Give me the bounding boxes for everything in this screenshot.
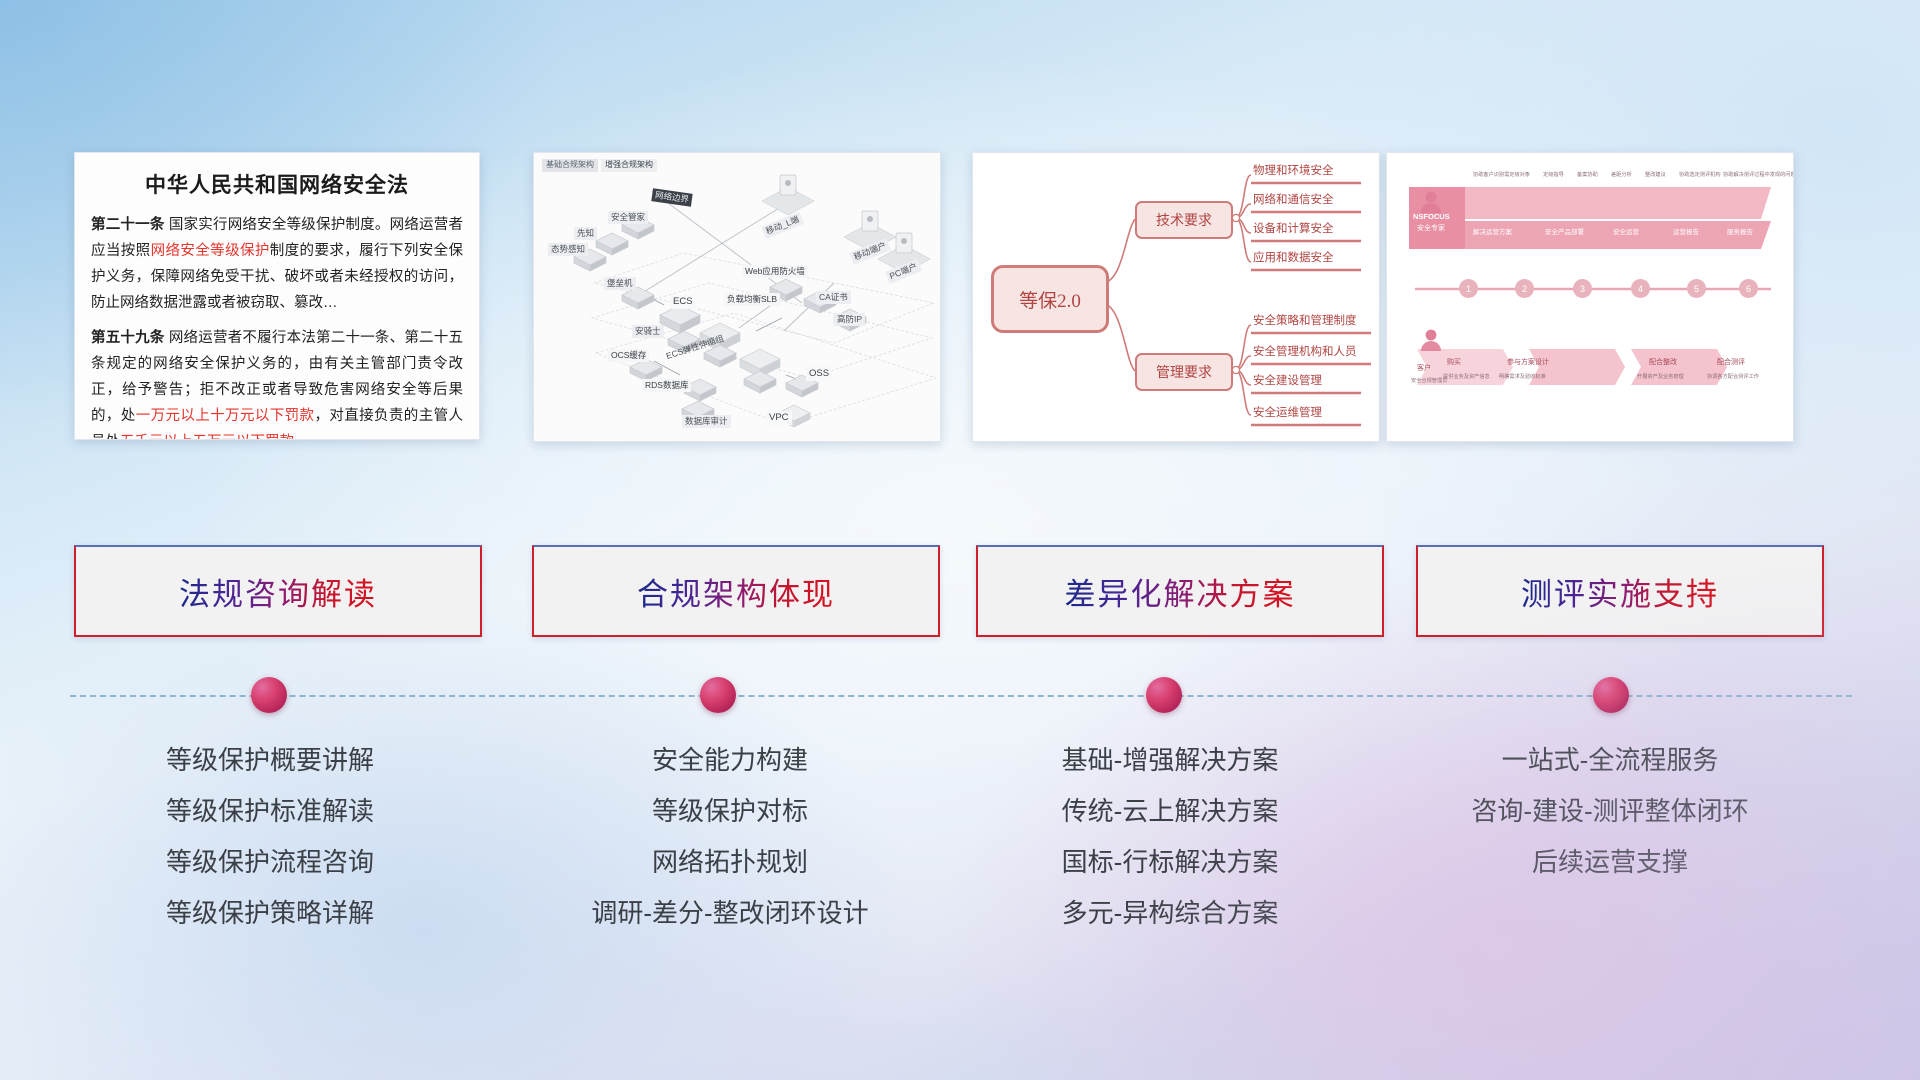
nsfocus-bottom-label-3: 配合整改	[1649, 359, 1677, 367]
nsfocus-top-step-5: 整改建议	[1645, 173, 1666, 179]
timeline	[0, 650, 1920, 730]
list-item: 调研-差分-整改闭环设计	[520, 888, 940, 939]
article-59-highlight-1: 一万元以上十万元以下罚款	[136, 408, 315, 424]
mindmap-leaf-org-personnel: 安全管理机构和人员	[1253, 346, 1357, 359]
law-card-title: 中华人民共和国网络安全法	[91, 173, 463, 198]
nsfocus-service-timeline-card[interactable]: NSFOCUS 安全专家 协助客户识别需定级对象 定级指导 备案协助 差距分析 …	[1386, 152, 1794, 442]
mindmap-leaf-physical-env: 物理和环境安全	[1253, 165, 1334, 178]
banner-evaluation-support[interactable]: 测评实施支持	[1416, 545, 1824, 637]
nsfocus-step-number-1: 1	[1459, 279, 1478, 298]
nsfocus-top-step-6: 协助选定测评机构	[1679, 173, 1721, 179]
node-anti-ddos-ip: 高防IP	[834, 313, 865, 326]
node-ocs-cache: OCS缓存	[608, 349, 649, 362]
list-item: 国标-行标解决方案	[960, 837, 1380, 888]
mindmap-leaf-app-data: 应用和数据安全	[1253, 252, 1334, 265]
list-item: 基础-增强解决方案	[960, 735, 1380, 786]
architecture-diagram: 基础合规架构 增强合规架构	[534, 153, 940, 441]
nsfocus-step-number-4: 4	[1631, 279, 1650, 298]
mindmap-root-node: 等保2.0	[991, 265, 1109, 333]
nsfocus-top-step-1: 协助客户识别需定级对象	[1473, 173, 1530, 179]
node-vpc: VPC	[766, 411, 792, 425]
nsfocus-persona-sub: 安全合规管理员	[1411, 379, 1447, 385]
list-item: 后续运营支撑	[1400, 837, 1820, 888]
list-item: 一站式-全流程服务	[1400, 735, 1820, 786]
banner-label-2: 合规架构体现	[637, 569, 835, 614]
node-ca-certificate: CA证书	[816, 291, 851, 304]
list-item: 多元-异构综合方案	[960, 888, 1380, 939]
timeline-dashed-line	[70, 695, 1852, 697]
nsfocus-persona: 客户	[1417, 365, 1431, 373]
banner-row: 法规咨询解读 合规架构体现 差异化解决方案 测评实施支持	[0, 545, 1920, 645]
nsfocus-bottom-label-4: 配合测评	[1717, 359, 1745, 367]
nsfocus-stage-3: 安全运营	[1613, 229, 1639, 236]
nsfocus-step-number-2: 2	[1515, 279, 1534, 298]
law-article-59: 第五十九条 网络运营者不履行本法第二十一条、第二十五条规定的网络安全保护义务的，…	[91, 325, 463, 440]
mindmap-leaf-network-comm: 网络和通信安全	[1253, 194, 1334, 207]
node-xianzhi: 先知	[574, 227, 597, 240]
nsfocus-step-number-6: 6	[1739, 279, 1758, 298]
article-59-highlight-2: 五千元以上五万元以下罚款	[120, 434, 294, 440]
detail-column-4: 一站式-全流程服务 咨询-建设-测评整体闭环 后续运营支撑	[1400, 735, 1820, 888]
nsfocus-brand-sub: 安全专家	[1417, 225, 1445, 233]
banner-compliance-architecture[interactable]: 合规架构体现	[532, 545, 940, 637]
mindmap-leaf-device-compute: 设备和计算安全	[1253, 223, 1334, 236]
nsfocus-bottom-label-1: 购买	[1447, 359, 1461, 367]
slide-canvas: 中华人民共和国网络安全法 第二十一条 国家实行网络安全等级保护制度。网络运营者应…	[0, 0, 1920, 1080]
mindmap: 等保2.0 技术要求 物理和环境安全 网络和通信安全 设备和计算安全 应用和数据…	[973, 153, 1379, 441]
timeline-dot-2[interactable]	[700, 677, 736, 713]
law-article-21: 第二十一条 国家实行网络安全等级保护制度。网络运营者应当按照网络安全等级保护制度…	[91, 212, 463, 316]
mindmap-leaf-ops-mgmt: 安全运维管理	[1253, 407, 1322, 420]
top-image-card-row: 中华人民共和国网络安全法 第二十一条 国家实行网络安全等级保护制度。网络运营者应…	[0, 152, 1920, 444]
node-security-butler: 安全管家	[608, 211, 648, 224]
timeline-dot-3[interactable]	[1146, 677, 1182, 713]
list-item: 网络拓扑规划	[520, 837, 940, 888]
node-oss: OSS	[806, 367, 832, 381]
banner-label-4: 测评实施支持	[1521, 569, 1719, 614]
list-item: 等级保护流程咨询	[60, 837, 480, 888]
nsfocus-bottom-sub-3: 开展资产及业务梳理	[1637, 375, 1684, 381]
list-item: 等级保护概要讲解	[60, 735, 480, 786]
banner-differentiated-solution[interactable]: 差异化解决方案	[976, 545, 1384, 637]
article-59-t4: 。	[294, 434, 309, 440]
nsfocus-stage-2: 安全产品部署	[1545, 229, 1584, 236]
detail-column-row: 等级保护概要讲解 等级保护标准解读 等级保护流程咨询 等级保护策略详解 安全能力…	[0, 735, 1920, 965]
nsfocus-stage-4: 运营报告	[1673, 229, 1699, 236]
nsfocus-shapes	[1387, 153, 1793, 441]
timeline-dot-1[interactable]	[251, 677, 287, 713]
nsfocus-step-number-5: 5	[1687, 279, 1706, 298]
cybersecurity-law-card[interactable]: 中华人民共和国网络安全法 第二十一条 国家实行网络安全等级保护制度。网络运营者应…	[74, 152, 480, 440]
banner-label-1: 法规咨询解读	[179, 569, 377, 614]
article-21-number: 第二十一条	[91, 217, 165, 233]
banner-regulation-consulting[interactable]: 法规咨询解读	[74, 545, 482, 637]
nsfocus-bottom-sub-4: 协调各方配合测评工作	[1707, 375, 1759, 381]
nsfocus-bottom-sub-1: 提供业务及资产信息	[1443, 375, 1490, 381]
list-item: 传统-云上解决方案	[960, 786, 1380, 837]
nsfocus-bottom-sub-2: 明确需求及验收标准	[1499, 375, 1546, 381]
detail-column-1: 等级保护概要讲解 等级保护标准解读 等级保护流程咨询 等级保护策略详解	[60, 735, 480, 939]
node-database-audit: 数据库审计	[682, 415, 731, 428]
list-item: 咨询-建设-测评整体闭环	[1400, 786, 1820, 837]
nsfocus-top-step-7: 协助解决测评过程中发现的问题	[1723, 173, 1794, 179]
list-item: 等级保护标准解读	[60, 786, 480, 837]
node-situational-awareness: 态势感知	[548, 243, 588, 256]
detail-column-2: 安全能力构建 等级保护对标 网络拓扑规划 调研-差分-整改闭环设计	[520, 735, 940, 939]
node-waf: Web应用防火墙	[742, 265, 808, 278]
node-ecs: ECS	[670, 295, 696, 309]
article-59-number: 第五十九条	[91, 330, 165, 346]
article-21-highlight: 网络安全等级保护	[151, 243, 270, 259]
list-item: 等级保护对标	[520, 786, 940, 837]
mindmap-branch-management: 管理要求	[1135, 353, 1233, 391]
nsfocus-top-step-4: 差距分析	[1611, 173, 1632, 179]
list-item: 安全能力构建	[520, 735, 940, 786]
node-slb: 负载均衡SLB	[724, 293, 780, 306]
banner-label-3: 差异化解决方案	[1065, 569, 1296, 614]
node-anqishi: 安骑士	[632, 325, 664, 338]
nsfocus-brand: NSFOCUS	[1413, 213, 1450, 221]
list-item: 等级保护策略详解	[60, 888, 480, 939]
detail-column-3: 基础-增强解决方案 传统-云上解决方案 国标-行标解决方案 多元-异构综合方案	[960, 735, 1380, 939]
nsfocus-diagram: NSFOCUS 安全专家 协助客户识别需定级对象 定级指导 备案协助 差距分析 …	[1387, 153, 1793, 441]
nsfocus-stage-1: 解决运营方案	[1473, 229, 1512, 236]
nsfocus-step-number-3: 3	[1573, 279, 1592, 298]
nsfocus-top-step-3: 备案协助	[1577, 173, 1598, 179]
dengbao-mindmap-card[interactable]: 等保2.0 技术要求 物理和环境安全 网络和通信安全 设备和计算安全 应用和数据…	[972, 152, 1380, 442]
nsfocus-stage-5: 服务报告	[1727, 229, 1753, 236]
mindmap-leaf-construction-mgmt: 安全建设管理	[1253, 375, 1322, 388]
cloud-architecture-card[interactable]: 基础合规架构 增强合规架构	[533, 152, 941, 442]
timeline-dot-4[interactable]	[1593, 677, 1629, 713]
nsfocus-bottom-label-2: 参与方案设计	[1507, 359, 1549, 367]
node-rds-database: RDS数据库	[642, 379, 691, 392]
node-bastion-host: 堡垒机	[604, 277, 636, 290]
nsfocus-top-step-2: 定级指导	[1543, 173, 1564, 179]
mindmap-leaf-policy-system: 安全策略和管理制度	[1253, 315, 1357, 328]
mindmap-branch-technical: 技术要求	[1135, 201, 1233, 239]
